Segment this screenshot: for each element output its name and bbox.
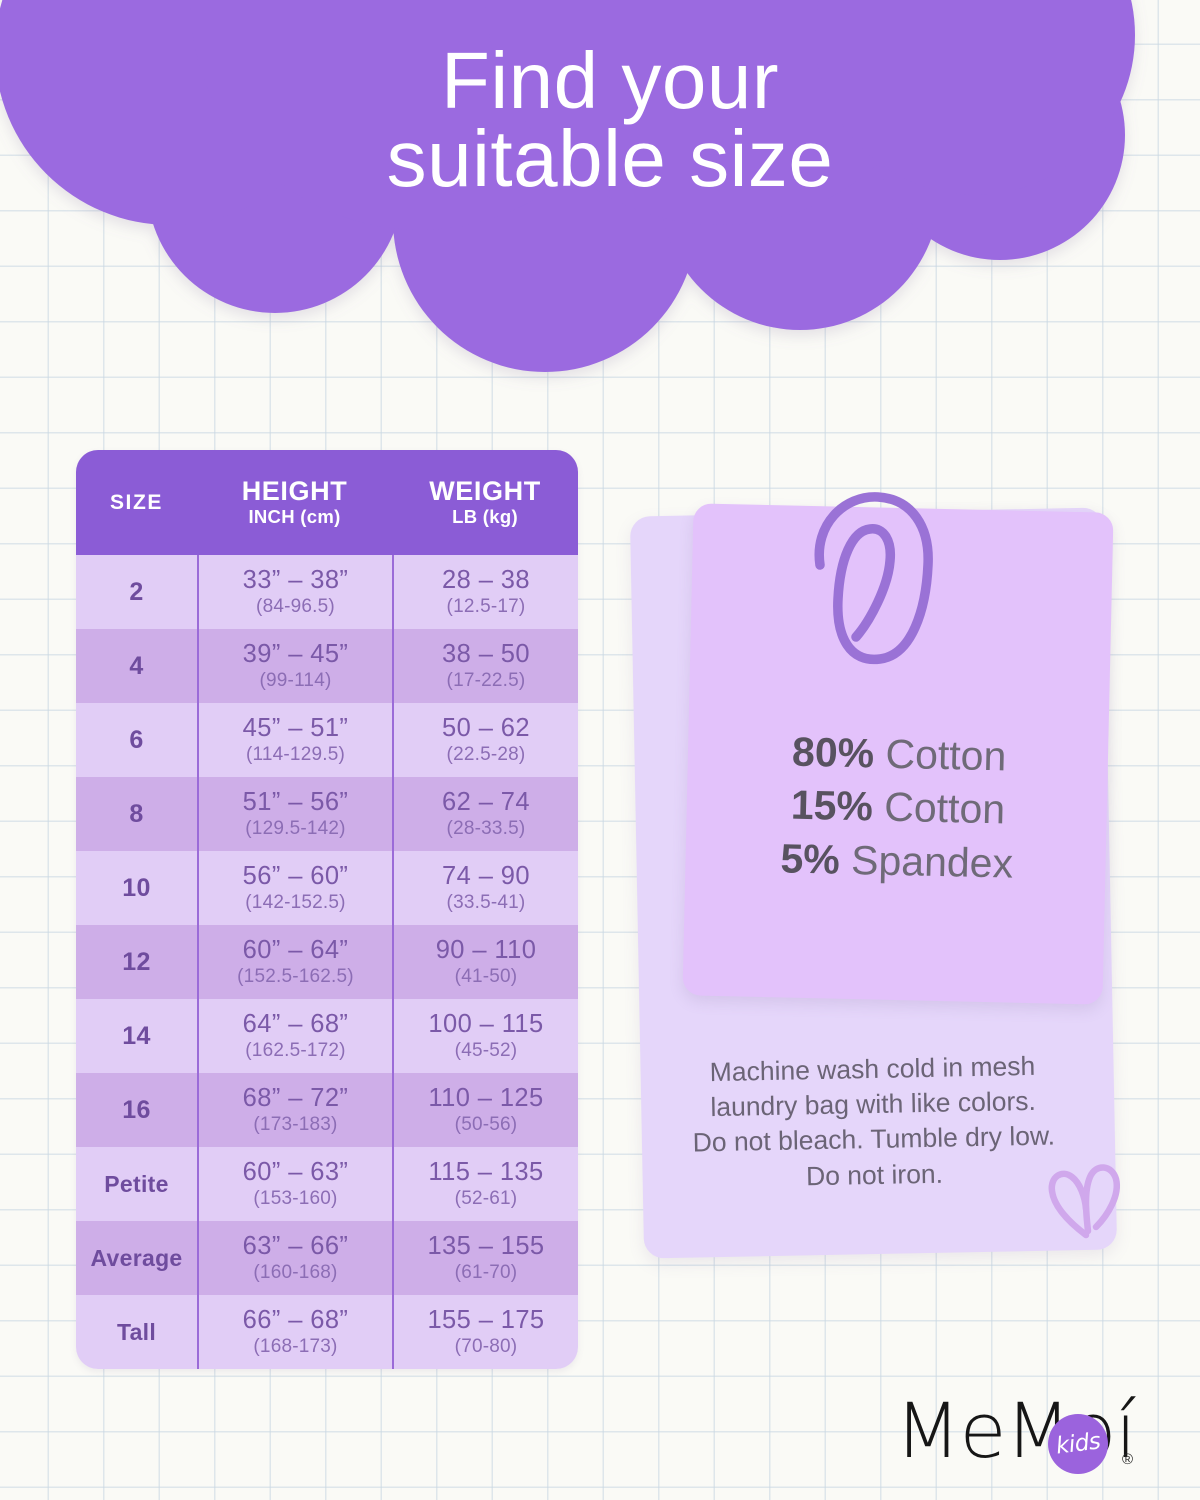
- cell-size: 4: [76, 629, 197, 703]
- column-header-height-label: HEIGHT: [242, 477, 348, 506]
- table-row: 1260” – 64”(152.5-162.5)90 – 110(41-50): [76, 925, 578, 999]
- title-line-2: suitable size: [20, 120, 1200, 198]
- cell-size: 8: [76, 777, 197, 851]
- fabric-composition: 80% Cotton 15% Cotton 5% Spandex: [686, 723, 1110, 892]
- cell-height-cm: (162.5-172): [245, 1040, 345, 1062]
- cell-weight: 50 – 62(22.5-28): [392, 703, 578, 777]
- cell-height-inch: 60” – 63”: [243, 1158, 349, 1187]
- column-header-weight: WEIGHT LB (kg): [392, 450, 578, 555]
- table-row: 1056” – 60”(142-152.5)74 – 90(33.5-41): [76, 851, 578, 925]
- cell-height-cm: (173-183): [253, 1114, 337, 1136]
- cell-size: 16: [76, 1073, 197, 1147]
- cell-weight-lb: 28 – 38: [442, 566, 530, 595]
- cell-weight-lb: 100 – 115: [428, 1010, 543, 1039]
- cell-height: 68” – 72”(173-183): [197, 1073, 392, 1147]
- table-row: Tall66” – 68”(168-173)155 – 175(70-80): [76, 1295, 578, 1369]
- cell-size: 6: [76, 703, 197, 777]
- cell-size: 2: [76, 555, 197, 629]
- cell-weight-kg: (33.5-41): [447, 892, 526, 914]
- table-body: 233” – 38”(84-96.5)28 – 38(12.5-17)439” …: [76, 555, 578, 1369]
- cell-height-inch: 63” – 66”: [243, 1232, 349, 1261]
- composition-material: Cotton: [874, 730, 1007, 779]
- size-chart-table: SIZE HEIGHT INCH (cm) WEIGHT LB (kg) 233…: [76, 450, 578, 1369]
- composition-line: 15% Cotton: [687, 777, 1108, 840]
- cell-weight-lb: 155 – 175: [427, 1306, 544, 1335]
- cell-weight: 115 – 135(52-61): [392, 1147, 578, 1221]
- infographic-page: Find your suitable size SIZE HEIGHT INCH…: [0, 0, 1200, 1500]
- table-row: 1464” – 68”(162.5-172)100 – 115(45-52): [76, 999, 578, 1073]
- cell-weight: 62 – 74(28-33.5): [392, 777, 578, 851]
- cell-height-cm: (114-129.5): [246, 744, 345, 766]
- cell-height: 51” – 56”(129.5-142): [197, 777, 392, 851]
- cell-weight: 135 – 155(61-70): [392, 1221, 578, 1295]
- table-header-row: SIZE HEIGHT INCH (cm) WEIGHT LB (kg): [76, 450, 578, 555]
- column-header-height: HEIGHT INCH (cm): [197, 450, 392, 555]
- cell-height-inch: 66” – 68”: [243, 1306, 349, 1335]
- title-line-1: Find your: [441, 36, 779, 125]
- cell-weight-kg: (22.5-28): [447, 744, 526, 766]
- cell-size-value: 6: [129, 726, 143, 755]
- table-row: 1668” – 72”(173-183)110 – 125(50-56): [76, 1073, 578, 1147]
- cell-size: Average: [76, 1221, 197, 1295]
- cell-size-value: 10: [122, 874, 150, 903]
- cell-weight-kg: (17-22.5): [447, 670, 526, 692]
- cell-weight-lb: 135 – 155: [427, 1232, 544, 1261]
- cell-weight-lb: 90 – 110: [436, 936, 537, 965]
- table-row: Petite60” – 63”(153-160)115 – 135(52-61): [76, 1147, 578, 1221]
- cell-height: 60” – 64”(152.5-162.5): [197, 925, 392, 999]
- composition-percent: 80%: [792, 729, 875, 777]
- column-header-size: SIZE: [76, 450, 197, 555]
- cell-weight: 38 – 50(17-22.5): [392, 629, 578, 703]
- column-header-height-unit: INCH (cm): [248, 506, 340, 528]
- cell-weight-kg: (45-52): [455, 1040, 518, 1062]
- cell-weight-lb: 50 – 62: [442, 714, 530, 743]
- paperclip-icon: [800, 487, 970, 672]
- cell-size-value: 12: [122, 948, 150, 977]
- cell-weight-lb: 110 – 125: [428, 1084, 543, 1113]
- cell-weight-kg: (52-61): [455, 1188, 518, 1210]
- cell-size-value: Tall: [117, 1319, 156, 1346]
- cell-weight-kg: (61-70): [455, 1262, 518, 1284]
- cell-height-inch: 56” – 60”: [243, 862, 349, 891]
- kids-badge-label: kids: [1054, 1428, 1101, 1459]
- cell-height: 39” – 45”(99-114): [197, 629, 392, 703]
- brand-logo: MeMoí kids ®: [895, 1383, 1140, 1478]
- composition-line: 5% Spandex: [686, 830, 1107, 893]
- cell-size-value: 14: [122, 1022, 150, 1051]
- table-row: 645” – 51”(114-129.5)50 – 62(22.5-28): [76, 703, 578, 777]
- cell-height-inch: 68” – 72”: [243, 1084, 349, 1113]
- table-row: 233” – 38”(84-96.5)28 – 38(12.5-17): [76, 555, 578, 629]
- composition-percent: 5%: [780, 835, 840, 882]
- cell-weight-lb: 74 – 90: [442, 862, 530, 891]
- cell-height-cm: (152.5-162.5): [237, 966, 354, 988]
- cell-weight: 110 – 125(50-56): [392, 1073, 578, 1147]
- cell-size: 14: [76, 999, 197, 1073]
- cell-height-inch: 33” – 38”: [243, 566, 349, 595]
- composition-material: Cotton: [872, 784, 1005, 833]
- cell-weight-kg: (70-80): [455, 1336, 518, 1358]
- composition-material: Spandex: [839, 836, 1013, 886]
- cell-height: 66” – 68”(168-173): [197, 1295, 392, 1369]
- cell-height-inch: 39” – 45”: [243, 640, 349, 669]
- cell-size-value: 2: [129, 578, 143, 607]
- cell-height-cm: (129.5-142): [245, 818, 345, 840]
- cell-weight-kg: (28-33.5): [447, 818, 526, 840]
- table-row: 439” – 45”(99-114)38 – 50(17-22.5): [76, 629, 578, 703]
- cell-weight: 155 – 175(70-80): [392, 1295, 578, 1369]
- cell-height-cm: (153-160): [253, 1188, 337, 1210]
- cell-weight-kg: (50-56): [455, 1114, 518, 1136]
- cell-height-inch: 45” – 51”: [243, 714, 349, 743]
- cell-size: Tall: [76, 1295, 197, 1369]
- cell-size-value: 8: [129, 800, 143, 829]
- page-title: Find your suitable size: [0, 42, 1200, 199]
- cell-size-value: 4: [129, 652, 143, 681]
- cell-weight: 74 – 90(33.5-41): [392, 851, 578, 925]
- composition-percent: 15%: [790, 782, 873, 830]
- cell-weight-kg: (41-50): [455, 966, 518, 988]
- kids-badge: kids: [1048, 1414, 1108, 1474]
- cell-weight: 28 – 38(12.5-17): [392, 555, 578, 629]
- registered-trademark-symbol: ®: [1122, 1451, 1133, 1468]
- cell-size-value: Petite: [104, 1171, 168, 1198]
- cell-height: 60” – 63”(153-160): [197, 1147, 392, 1221]
- table-row: Average63” – 66”(160-168)135 – 155(61-70…: [76, 1221, 578, 1295]
- cell-height-cm: (142-152.5): [245, 892, 345, 914]
- heart-icon: [1040, 1157, 1135, 1247]
- cell-size: Petite: [76, 1147, 197, 1221]
- column-header-size-label: SIZE: [110, 491, 163, 515]
- cell-weight-lb: 38 – 50: [442, 640, 530, 669]
- cell-height: 63” – 66”(160-168): [197, 1221, 392, 1295]
- composition-line: 80% Cotton: [689, 723, 1110, 786]
- cell-height-cm: (160-168): [253, 1262, 337, 1284]
- cell-weight: 90 – 110(41-50): [392, 925, 578, 999]
- cell-height-inch: 60” – 64”: [243, 936, 349, 965]
- cell-height: 45” – 51”(114-129.5): [197, 703, 392, 777]
- cell-height: 56” – 60”(142-152.5): [197, 851, 392, 925]
- cell-height-inch: 64” – 68”: [243, 1010, 349, 1039]
- cell-height-inch: 51” – 56”: [243, 788, 349, 817]
- cell-weight-kg: (12.5-17): [447, 596, 526, 618]
- cell-height-cm: (84-96.5): [256, 596, 335, 618]
- cell-weight-lb: 115 – 135: [428, 1158, 543, 1187]
- column-header-weight-unit: LB (kg): [452, 506, 518, 528]
- cell-height: 33” – 38”(84-96.5): [197, 555, 392, 629]
- cell-size-value: Average: [90, 1245, 182, 1272]
- cell-height-cm: (168-173): [253, 1336, 337, 1358]
- cell-height-cm: (99-114): [259, 670, 331, 692]
- cell-weight: 100 – 115(45-52): [392, 999, 578, 1073]
- cell-size: 10: [76, 851, 197, 925]
- cell-weight-lb: 62 – 74: [442, 788, 530, 817]
- cell-height: 64” – 68”(162.5-172): [197, 999, 392, 1073]
- cell-size-value: 16: [122, 1096, 150, 1125]
- cell-size: 12: [76, 925, 197, 999]
- column-header-weight-label: WEIGHT: [429, 477, 541, 506]
- table-row: 851” – 56”(129.5-142)62 – 74(28-33.5): [76, 777, 578, 851]
